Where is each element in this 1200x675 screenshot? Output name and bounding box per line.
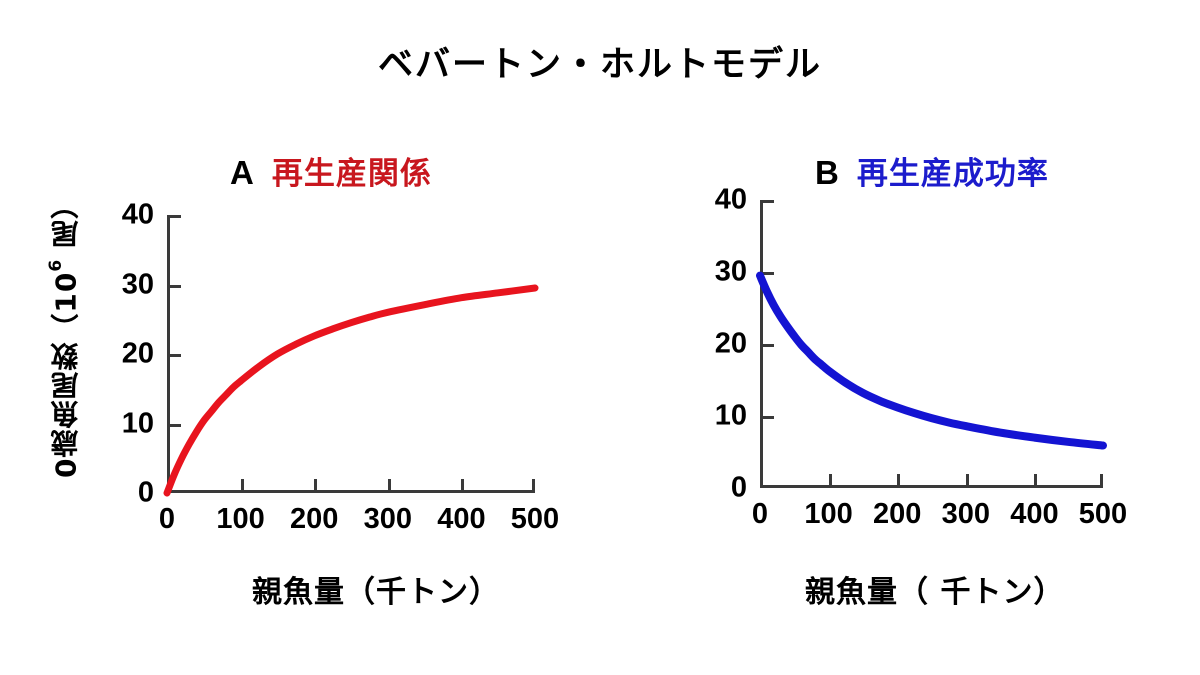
- panel-a-y-ticklabel-40: 40: [122, 199, 154, 232]
- panel-b-y-ticklabel-0: 0: [731, 472, 747, 505]
- panel-a-header: A 再生産関係: [230, 148, 432, 193]
- panel-a-x-ticklabel-500: 500: [511, 503, 559, 536]
- figure-title: ベバートン・ホルトモデル: [0, 36, 1200, 87]
- panel-b-curve: [760, 200, 1103, 488]
- panel-b-x-ticklabel-500: 500: [1079, 498, 1127, 531]
- figure-root: ベバートン・ホルトモデル A 再生産関係 0歳魚尾数（106 尾） 0 10 2…: [0, 0, 1200, 675]
- panel-a-y-axis-label-main: 0歳魚尾数（10: [49, 272, 82, 478]
- panel-a-title: 再生産関係: [272, 148, 432, 193]
- panel-b-y-ticklabel-20: 20: [715, 328, 747, 361]
- panel-b-x-ticklabel-300: 300: [942, 498, 990, 531]
- panel-a-x-ticklabel-200: 200: [290, 503, 338, 536]
- panel-a-curve: [167, 215, 535, 493]
- panel-b-header: B 再生産成功率: [815, 148, 1049, 193]
- panel-b-y-ticklabel-10: 10: [715, 400, 747, 433]
- panel-a-y-axis-label: 0歳魚尾数（106 尾）: [48, 190, 80, 478]
- panel-a-x-ticklabel-400: 400: [437, 503, 485, 536]
- panel-a-x-ticklabel-0: 0: [159, 503, 175, 536]
- panel-a-y-ticklabel-20: 20: [122, 338, 154, 371]
- panel-b-letter: B: [815, 154, 839, 192]
- panel-b-x-axis-label: 親魚量（ 千トン）: [805, 567, 1064, 611]
- panel-b-x-ticklabel-0: 0: [752, 498, 768, 531]
- panel-a-plot-area: 0 10 20 30 40 0 100 200 300 400 500: [167, 215, 535, 493]
- panel-b-y-ticklabel-30: 30: [715, 256, 747, 289]
- panel-a-y-axis-label-exponent: 6: [46, 259, 66, 272]
- panel-b-y-ticklabel-40: 40: [715, 184, 747, 217]
- panel-b-title: 再生産成功率: [857, 148, 1049, 193]
- panel-a-x-axis-label: 親魚量（千トン）: [252, 567, 500, 611]
- panel-a: A 再生産関係 0歳魚尾数（106 尾） 0 10 20 30 40: [0, 130, 600, 650]
- panel-b-x-ticklabel-200: 200: [873, 498, 921, 531]
- panel-a-letter: A: [230, 154, 254, 192]
- panel-a-x-ticklabel-300: 300: [364, 503, 412, 536]
- panel-a-x-ticklabel-100: 100: [216, 503, 264, 536]
- panel-a-y-axis-label-tail: 尾）: [49, 190, 82, 259]
- panel-b-x-ticklabel-400: 400: [1010, 498, 1058, 531]
- panel-a-y-ticklabel-0: 0: [138, 477, 154, 510]
- panel-a-y-ticklabel-30: 30: [122, 268, 154, 301]
- panel-a-y-ticklabel-10: 10: [122, 407, 154, 440]
- panel-b-plot-area: 0 10 20 30 40 0 100 200 300 400 500: [760, 200, 1103, 488]
- panel-b: B 再生産成功率 再生産成功率（尾） 0 10 20 30 40 0 100: [600, 130, 1200, 650]
- panel-b-x-ticklabel-100: 100: [804, 498, 852, 531]
